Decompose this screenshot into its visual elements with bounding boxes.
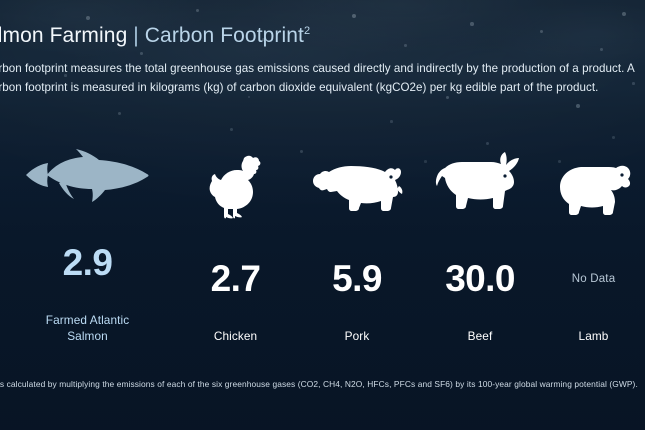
page-title-main: almon Farming <box>0 24 133 47</box>
value-beef: 30.0 <box>445 248 515 310</box>
page-title: almon Farming | Carbon Footprint2 <box>0 18 645 49</box>
chicken-icon <box>207 144 265 220</box>
label-beef: Beef <box>468 328 493 344</box>
label-pork: Pork <box>345 328 370 344</box>
page-title-footnote-marker: 2 <box>304 25 310 37</box>
cow-icon <box>433 144 527 220</box>
label-chicken: Chicken <box>214 328 257 344</box>
intro-paragraph: carbon footprint measures the total gree… <box>0 59 645 97</box>
column-beef[interactable]: 30.0 Beef <box>418 144 542 344</box>
pig-icon <box>311 144 403 220</box>
label-line-1: Farmed Atlantic <box>46 313 129 327</box>
value-chicken: 2.7 <box>211 248 261 310</box>
column-chicken[interactable]: 2.7 Chicken <box>175 144 296 344</box>
column-pork[interactable]: 5.9 Pork <box>296 144 418 344</box>
page-title-separator: | <box>133 24 145 47</box>
label-lamb: Lamb <box>579 328 609 344</box>
footnote: 2e is calculated by multiplying the emis… <box>0 378 641 391</box>
page-title-sub: Carbon Footprint <box>145 24 304 47</box>
infographic-canvas: almon Farming | Carbon Footprint2 carbon… <box>0 0 645 430</box>
salmon-icon <box>23 128 153 204</box>
label-farmed-atlantic-salmon: Farmed Atlantic Salmon <box>46 312 129 344</box>
animal-columns: 2.9 Farmed Atlantic Salmon 2.7 Chicken <box>0 128 645 344</box>
sheep-icon <box>554 144 634 220</box>
column-lamb[interactable]: No Data Lamb <box>542 144 645 344</box>
value-lamb: No Data <box>572 248 616 310</box>
column-farmed-atlantic-salmon[interactable]: 2.9 Farmed Atlantic Salmon <box>0 128 175 344</box>
value-pork: 5.9 <box>332 248 382 310</box>
header: almon Farming | Carbon Footprint2 carbon… <box>0 18 645 97</box>
value-farmed-atlantic-salmon: 2.9 <box>63 232 113 294</box>
label-line-2: Salmon <box>67 329 108 343</box>
